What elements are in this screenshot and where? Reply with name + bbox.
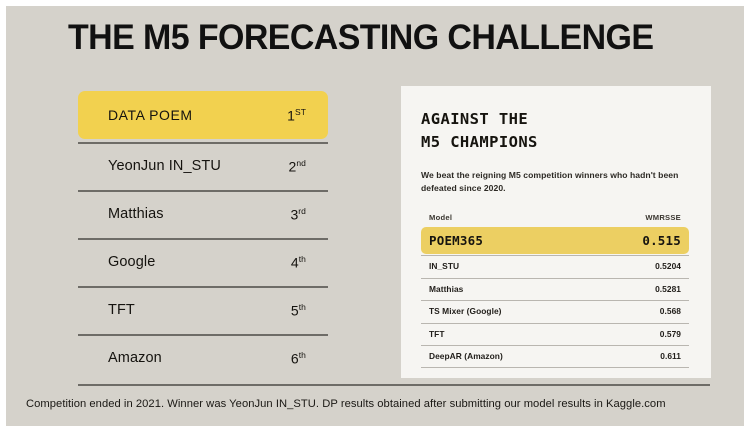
results-row-model: Matthias <box>429 284 463 294</box>
results-row-model: DeepAR (Amazon) <box>429 351 503 361</box>
leaderboard-row-position: 5th <box>291 302 306 319</box>
leaderboard-row-position: 4th <box>291 254 306 271</box>
position-suffix: th <box>299 254 306 264</box>
page-title: THE M5 FORECASTING CHALLENGE <box>68 18 689 58</box>
position-suffix: th <box>299 302 306 312</box>
results-row-wmrsse: 0.5204 <box>655 261 681 271</box>
comparison-card: AGAINST THE M5 CHAMPIONS We beat the rei… <box>401 86 711 378</box>
results-row-model: TS Mixer (Google) <box>429 306 502 316</box>
footer-note: Competition ended in 2021. Winner was Ye… <box>26 398 726 410</box>
column-header-wmrsse: WMRSSE <box>645 213 681 222</box>
leaderboard-row-name: Google <box>108 254 155 270</box>
leaderboard-row: Matthias3rd <box>78 190 328 238</box>
results-row-model: POEM365 <box>429 233 483 248</box>
results-table-header: Model WMRSSE <box>421 213 689 227</box>
leaderboard-row-position: 2nd <box>289 158 306 175</box>
results-row-model: TFT <box>429 329 445 339</box>
card-subtitle: We beat the reigning M5 competition winn… <box>421 169 679 196</box>
position-suffix: nd <box>296 158 306 168</box>
results-row-wmrsse: 0.5281 <box>655 284 681 294</box>
results-table: Model WMRSSE POEM3650.515IN_STU0.5204Mat… <box>421 213 689 368</box>
leaderboard-row-position: 6th <box>291 350 306 367</box>
results-row-wmrsse: 0.515 <box>642 233 681 248</box>
results-row-wmrsse: 0.579 <box>660 329 681 339</box>
results-row-wmrsse: 0.611 <box>660 351 681 361</box>
position-number: 5 <box>291 302 299 318</box>
leaderboard-row: YeonJun IN_STU2nd <box>78 142 328 190</box>
results-row-model: IN_STU <box>429 261 459 271</box>
leaderboard-list: DATA POEM1STYeonJun IN_STU2ndMatthias3rd… <box>78 91 328 382</box>
position-number: 4 <box>291 254 299 270</box>
results-row-wmrsse: 0.568 <box>660 306 681 316</box>
results-table-row: IN_STU0.5204 <box>421 255 689 278</box>
card-heading-line-2: M5 CHAMPIONS <box>421 131 691 154</box>
card-heading-line-1: AGAINST THE <box>421 108 691 131</box>
leaderboard-row: DATA POEM1ST <box>78 91 328 139</box>
position-suffix: ST <box>295 107 306 117</box>
position-number: 1 <box>287 107 295 123</box>
leaderboard-row-position: 1ST <box>287 107 306 124</box>
leaderboard-row-position: 3rd <box>290 206 306 223</box>
results-table-row: TFT0.579 <box>421 323 689 346</box>
results-table-row: Matthias0.5281 <box>421 278 689 301</box>
slide-canvas: THE M5 FORECASTING CHALLENGE DATA POEM1S… <box>6 6 744 426</box>
position-suffix: rd <box>298 206 306 216</box>
position-suffix: th <box>299 350 306 360</box>
leaderboard-row: Google4th <box>78 238 328 286</box>
leaderboard-row: TFT5th <box>78 286 328 334</box>
results-table-row: POEM3650.515 <box>421 227 689 254</box>
footer-divider <box>78 384 710 386</box>
results-table-body: POEM3650.515IN_STU0.5204Matthias0.5281TS… <box>421 227 689 368</box>
leaderboard-row-name: TFT <box>108 302 135 318</box>
results-table-row: TS Mixer (Google)0.568 <box>421 300 689 323</box>
leaderboard-row: Amazon6th <box>78 334 328 382</box>
leaderboard-row-name: YeonJun IN_STU <box>108 158 221 174</box>
card-heading: AGAINST THE M5 CHAMPIONS <box>421 108 691 155</box>
leaderboard-row-name: Amazon <box>108 350 162 366</box>
results-table-row: DeepAR (Amazon)0.611 <box>421 345 689 368</box>
column-header-model: Model <box>429 213 452 222</box>
position-number: 6 <box>291 350 299 366</box>
leaderboard-row-name: DATA POEM <box>108 107 193 123</box>
leaderboard-row-name: Matthias <box>108 206 164 222</box>
